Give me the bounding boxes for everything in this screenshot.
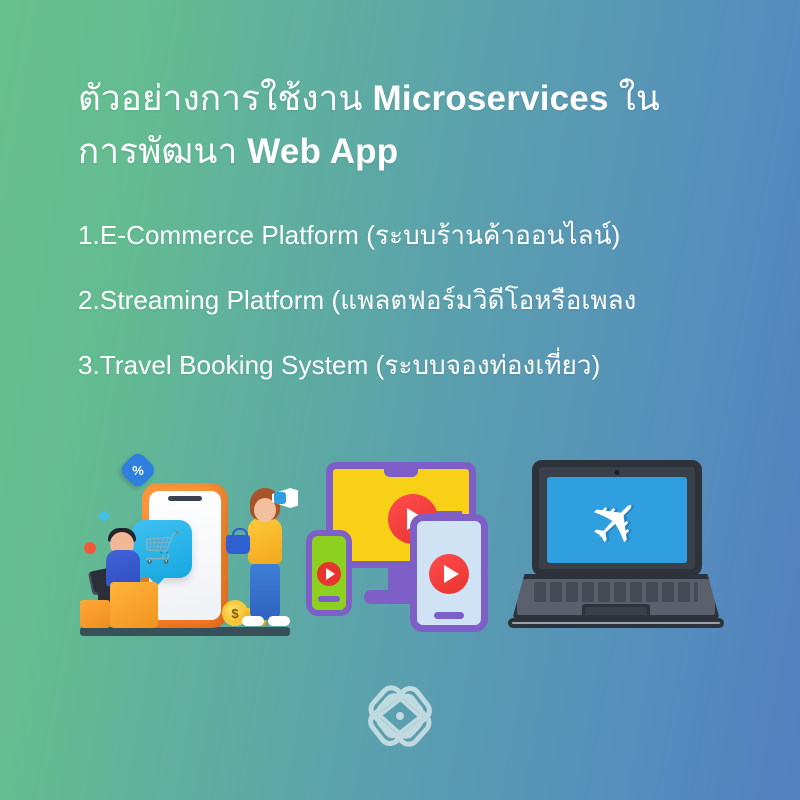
discount-badge-icon: % [118,450,158,490]
woman-torso [248,518,282,564]
woman-shoe-left [242,616,264,626]
brand-logo [360,676,440,756]
sparkle-diamond-icon [98,510,110,522]
title-keyword-webapp: Web App [247,132,398,171]
megaphone-mouth [274,492,286,504]
logo-center-dot [396,712,404,720]
list-item: 1.E-Commerce Platform (ระบบร้านค้าออนไลน… [78,218,758,283]
play-button-icon [429,554,469,594]
ecommerce-illustration: % 🛒 $ [76,450,296,650]
illustration-row: % 🛒 $ [0,440,800,650]
discount-badge-label: % [124,456,152,484]
airplane-icon: ✈ [577,483,658,564]
use-case-list: 1.E-Commerce Platform (ระบบร้านค้าออนไลน… [78,218,758,413]
monitor-notch [384,468,418,477]
list-item: 3.Travel Booking System (ระบบจองท่องเที่… [78,348,758,413]
title-keyword-microservices: Microservices [373,79,609,118]
phone-speaker [168,496,202,501]
woman-legs [250,562,280,620]
tablet-home-bar [434,612,464,619]
parcel-box-large [110,582,158,628]
woman-shoe-right [268,616,290,626]
page-title: ตัวอย่างการใช้งาน Microservices ใน การพั… [78,72,738,178]
title-line-2-prefix: การพัฒนา [78,132,247,171]
title-line-1: ตัวอย่างการใช้งาน Microservices ใน [78,72,738,125]
ground-shadow [80,627,290,636]
handbag-icon [226,535,250,554]
trackpad [582,604,650,618]
tablet-notch [436,511,462,519]
webcam-icon [615,470,620,475]
title-line-1-suffix: ใน [609,79,660,118]
streaming-illustration [302,458,502,643]
slide-canvas: ตัวอย่างการใช้งาน Microservices ใน การพั… [0,0,800,800]
shopping-cart-icon: 🛒 [143,533,180,563]
laptop-screen: ✈ [547,477,687,563]
play-button-icon [317,562,341,586]
list-item: 2.Streaming Platform (แพลตฟอร์มวิดีโอหรื… [78,283,758,348]
travel-illustration: ✈ [508,454,724,644]
phone-home-bar [318,596,340,602]
coin-label: $ [231,606,238,621]
sparkle-dot-icon [84,542,96,554]
title-line-2: การพัฒนา Web App [78,125,738,178]
laptop-base-edge [508,618,724,628]
parcel-box-small [80,600,110,628]
shopping-cart-bubble: 🛒 [132,520,192,578]
laptop-lid: ✈ [532,460,702,576]
title-line-1-prefix: ตัวอย่างการใช้งาน [78,79,373,118]
keyboard-keys [534,582,698,602]
